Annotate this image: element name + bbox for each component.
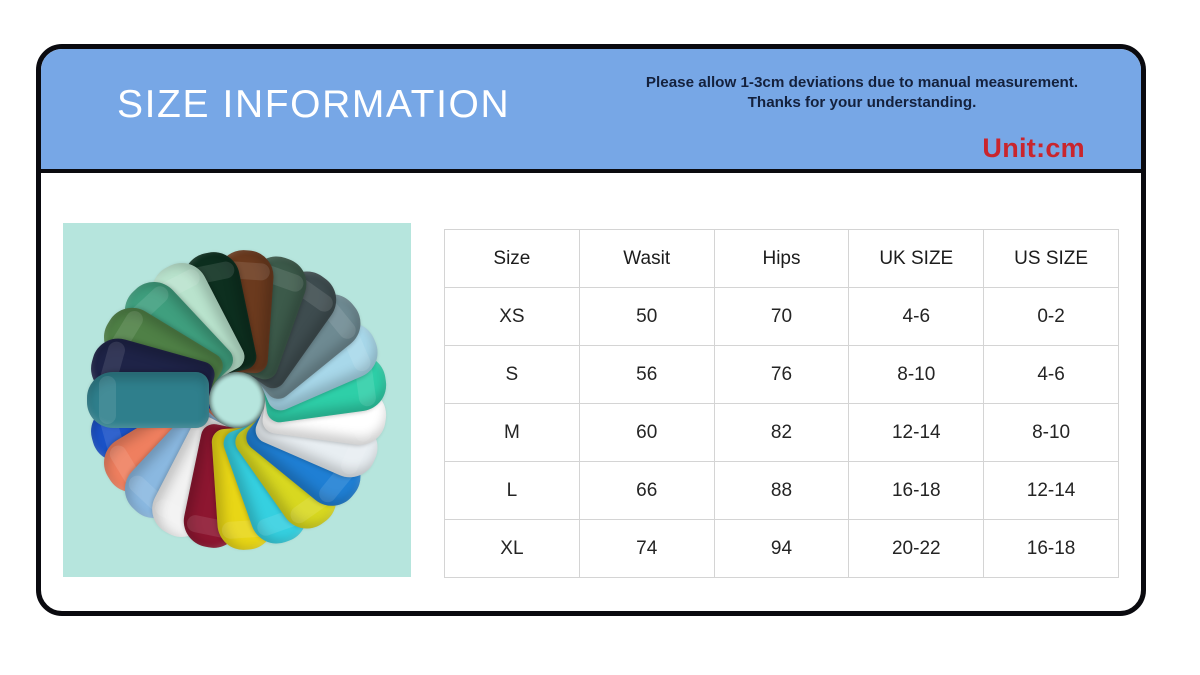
cell-uk: 16-18 — [849, 462, 984, 520]
cell-us: 16-18 — [984, 520, 1119, 578]
column-header-us-size: US SIZE — [984, 230, 1119, 288]
measurement-disclaimer: Please allow 1-3cm deviations due to man… — [597, 73, 1127, 113]
header-banner: SIZE INFORMATION Please allow 1-3cm devi… — [41, 49, 1141, 173]
size-information-card: SIZE INFORMATION Please allow 1-3cm devi… — [36, 44, 1146, 616]
table-header-row: Size Wasit Hips UK SIZE US SIZE — [445, 230, 1119, 288]
cell-uk: 20-22 — [849, 520, 984, 578]
cell-size: XS — [445, 288, 580, 346]
cell-hips: 94 — [714, 520, 849, 578]
product-photo — [63, 223, 411, 577]
table-row: M 60 82 12-14 8-10 — [445, 404, 1119, 462]
table-row: XS 50 70 4-6 0-2 — [445, 288, 1119, 346]
table-row: L 66 88 16-18 12-14 — [445, 462, 1119, 520]
cell-hips: 70 — [714, 288, 849, 346]
unit-label: Unit:cm — [982, 133, 1085, 164]
table-row: XL 74 94 20-22 16-18 — [445, 520, 1119, 578]
cell-uk: 12-14 — [849, 404, 984, 462]
column-header-waist: Wasit — [579, 230, 714, 288]
cell-uk: 8-10 — [849, 346, 984, 404]
cell-size: L — [445, 462, 580, 520]
cell-size: S — [445, 346, 580, 404]
cell-us: 0-2 — [984, 288, 1119, 346]
cell-us: 12-14 — [984, 462, 1119, 520]
cell-waist: 56 — [579, 346, 714, 404]
column-header-size: Size — [445, 230, 580, 288]
card-body: Size Wasit Hips UK SIZE US SIZE XS 50 70… — [41, 173, 1141, 611]
cell-hips: 82 — [714, 404, 849, 462]
cell-waist: 50 — [579, 288, 714, 346]
cell-us: 8-10 — [984, 404, 1119, 462]
cell-us: 4-6 — [984, 346, 1119, 404]
cell-hips: 76 — [714, 346, 849, 404]
size-chart-table: Size Wasit Hips UK SIZE US SIZE XS 50 70… — [444, 229, 1119, 578]
cell-waist: 74 — [579, 520, 714, 578]
page-title: SIZE INFORMATION — [117, 83, 510, 127]
cell-uk: 4-6 — [849, 288, 984, 346]
cell-waist: 66 — [579, 462, 714, 520]
table-row: S 56 76 8-10 4-6 — [445, 346, 1119, 404]
column-header-hips: Hips — [714, 230, 849, 288]
disclaimer-line-2: Thanks for your understanding. — [597, 93, 1127, 113]
disclaimer-line-1: Please allow 1-3cm deviations due to man… — [597, 73, 1127, 93]
cell-hips: 88 — [714, 462, 849, 520]
cell-size: XL — [445, 520, 580, 578]
column-header-uk-size: UK SIZE — [849, 230, 984, 288]
cell-size: M — [445, 404, 580, 462]
cell-waist: 60 — [579, 404, 714, 462]
garment-item — [87, 372, 209, 428]
